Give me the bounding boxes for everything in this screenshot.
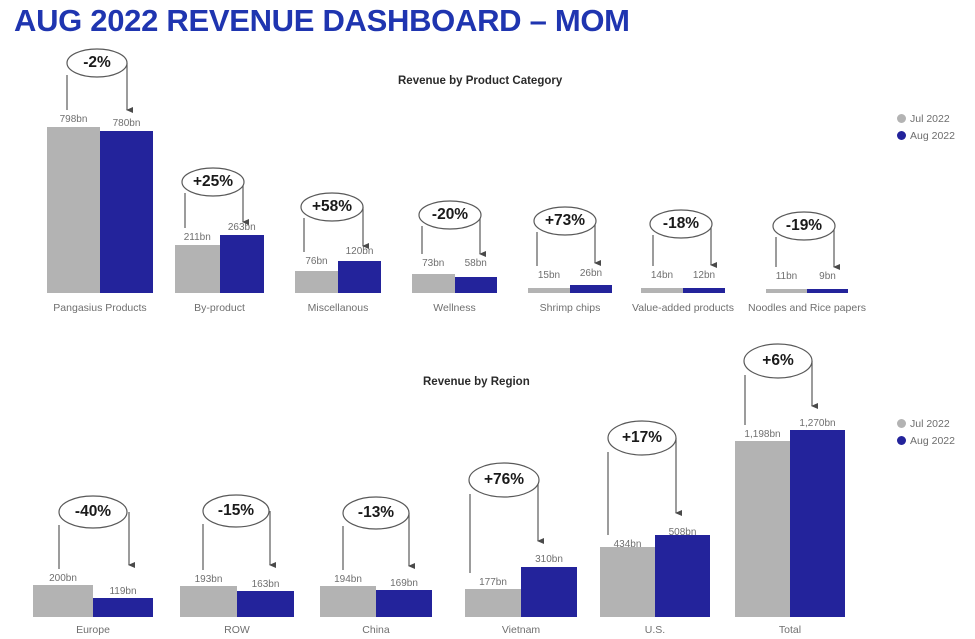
bar-region-2-aug[interactable]: [376, 590, 432, 617]
value-label-product-1-aug: 263bn: [220, 222, 265, 233]
category-label-product-4: Shrimp chips: [508, 302, 632, 315]
bar-product-1-aug[interactable]: [220, 235, 265, 293]
legend-item-product-0[interactable]: Jul 2022: [897, 110, 955, 127]
legend-item-region-0[interactable]: Jul 2022: [897, 415, 955, 432]
chart-title-region: Revenue by Region: [423, 376, 530, 388]
category-label-region-5: Total: [715, 624, 865, 637]
legend-item-product-1[interactable]: Aug 2022: [897, 127, 955, 144]
callout-percent-product-3: -20%: [419, 206, 481, 224]
callout-percent-product-4: +73%: [534, 212, 596, 230]
value-label-region-0-jul: 200bn: [33, 573, 93, 584]
callout-percent-region-1: -15%: [203, 502, 269, 520]
callout-percent-product-2: +58%: [301, 198, 363, 216]
bar-product-2-jul[interactable]: [295, 271, 338, 293]
callout-percent-product-5: -18%: [650, 215, 712, 233]
bar-product-0-aug[interactable]: [100, 131, 153, 293]
value-label-region-2-aug: 169bn: [376, 578, 432, 589]
bar-region-3-jul[interactable]: [465, 589, 521, 617]
value-label-product-4-aug: 26bn: [570, 268, 612, 279]
legend-region: Jul 2022Aug 2022: [897, 415, 955, 449]
bar-product-3-jul[interactable]: [412, 274, 455, 293]
callout-percent-product-6: -19%: [773, 217, 835, 235]
bar-region-1-jul[interactable]: [180, 586, 237, 617]
callout-percent-region-0: -40%: [59, 503, 127, 521]
category-label-product-0: Pangasius Products: [27, 302, 173, 315]
bar-region-3-aug[interactable]: [521, 567, 577, 617]
category-label-region-1: ROW: [160, 624, 314, 637]
revenue-dashboard: AUG 2022 REVENUE DASHBOARD – MOM Revenue…: [0, 0, 975, 639]
category-label-product-2: Miscellanous: [275, 302, 401, 315]
value-label-product-2-jul: 76bn: [295, 256, 338, 267]
value-label-product-0-jul: 798bn: [47, 114, 100, 125]
legend-label: Jul 2022: [910, 113, 950, 125]
bar-region-5-aug[interactable]: [790, 430, 845, 617]
value-label-region-4-aug: 508bn: [655, 527, 710, 538]
value-label-product-5-aug: 12bn: [683, 270, 725, 281]
value-label-region-5-aug: 1,270bn: [790, 418, 845, 429]
bar-product-5-jul[interactable]: [641, 288, 683, 293]
bar-product-6-aug[interactable]: [807, 289, 848, 293]
category-label-region-2: China: [300, 624, 452, 637]
page-title: AUG 2022 REVENUE DASHBOARD – MOM: [14, 3, 630, 39]
value-label-product-0-aug: 780bn: [100, 118, 153, 129]
bar-region-0-jul[interactable]: [33, 585, 93, 617]
legend-label: Aug 2022: [910, 130, 955, 142]
value-label-product-6-jul: 11bn: [766, 271, 807, 282]
value-label-product-5-jul: 14bn: [641, 270, 683, 281]
value-label-product-4-jul: 15bn: [528, 270, 570, 281]
value-label-product-2-aug: 120bn: [338, 246, 381, 257]
bar-region-4-aug[interactable]: [655, 535, 710, 617]
category-label-region-3: Vietnam: [445, 624, 597, 637]
bar-region-5-jul[interactable]: [735, 441, 790, 617]
legend-product-category: Jul 2022Aug 2022: [897, 110, 955, 144]
bar-product-4-jul[interactable]: [528, 288, 570, 293]
chart-title-product-category: Revenue by Product Category: [398, 75, 562, 87]
category-label-region-0: Europe: [13, 624, 173, 637]
category-label-product-1: By-product: [155, 302, 284, 315]
value-label-region-3-aug: 310bn: [521, 554, 577, 565]
value-label-product-3-jul: 73bn: [412, 258, 455, 269]
bar-product-1-jul[interactable]: [175, 245, 220, 293]
value-label-product-6-aug: 9bn: [807, 271, 848, 282]
value-label-region-5-jul: 1,198bn: [735, 429, 790, 440]
legend-dot-aug-icon: [897, 131, 906, 140]
category-label-product-5: Value-added products: [621, 302, 745, 315]
value-label-product-3-aug: 58bn: [455, 258, 498, 269]
legend-label: Aug 2022: [910, 435, 955, 447]
bar-region-0-aug[interactable]: [93, 598, 153, 617]
value-label-region-3-jul: 177bn: [465, 577, 521, 588]
bar-product-0-jul[interactable]: [47, 127, 100, 293]
category-label-region-4: U.S.: [580, 624, 730, 637]
bar-region-4-jul[interactable]: [600, 547, 655, 617]
callout-percent-region-2: -13%: [343, 504, 409, 522]
bar-product-3-aug[interactable]: [455, 277, 498, 293]
value-label-region-2-jul: 194bn: [320, 574, 376, 585]
category-label-product-6: Noodles and Rice papers: [746, 302, 868, 315]
callout-percent-region-3: +76%: [469, 471, 539, 489]
legend-dot-aug-icon: [897, 436, 906, 445]
callout-percent-region-4: +17%: [608, 429, 676, 447]
value-label-region-0-aug: 119bn: [93, 586, 153, 597]
value-label-product-1-jul: 211bn: [175, 232, 220, 243]
legend-dot-jul-icon: [897, 419, 906, 428]
bar-product-2-aug[interactable]: [338, 261, 381, 293]
callout-percent-region-5: +6%: [744, 352, 812, 370]
value-label-region-4-jul: 434bn: [600, 539, 655, 550]
bar-product-5-aug[interactable]: [683, 288, 725, 293]
legend-label: Jul 2022: [910, 418, 950, 430]
value-label-region-1-jul: 193bn: [180, 574, 237, 585]
bar-region-1-aug[interactable]: [237, 591, 294, 617]
bar-region-2-jul[interactable]: [320, 586, 376, 617]
callout-percent-product-0: -2%: [67, 54, 127, 72]
legend-dot-jul-icon: [897, 114, 906, 123]
callout-percent-product-1: +25%: [182, 173, 244, 191]
legend-item-region-1[interactable]: Aug 2022: [897, 432, 955, 449]
bar-product-6-jul[interactable]: [766, 289, 807, 293]
value-label-region-1-aug: 163bn: [237, 579, 294, 590]
category-label-product-3: Wellness: [392, 302, 517, 315]
bar-product-4-aug[interactable]: [570, 285, 612, 293]
